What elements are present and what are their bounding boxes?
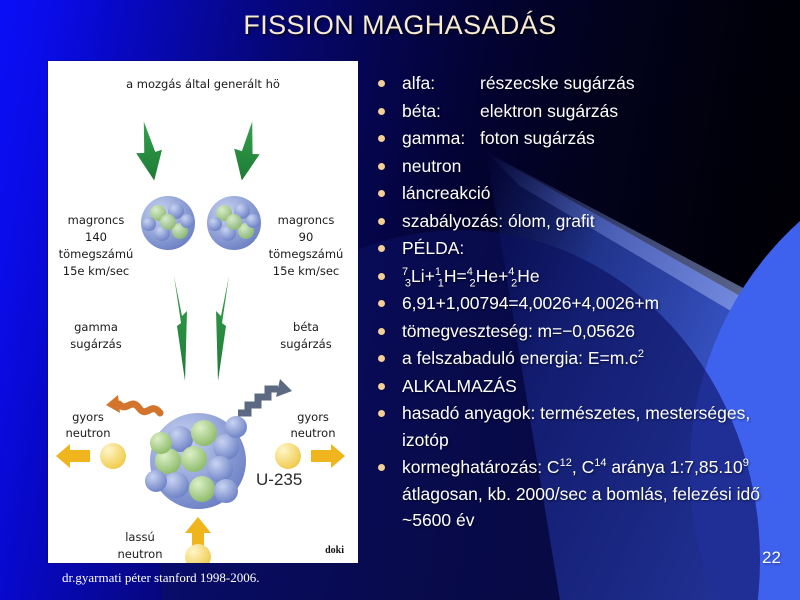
fast-neutron-right-line1: gyors (297, 410, 329, 424)
fragment-right-line2: 90 (299, 230, 314, 244)
eq-el-3: He (476, 266, 498, 286)
bullet-dot-icon (378, 190, 385, 197)
bullet-item-nuclear-equation: 73Li+11H=42He+42He (374, 263, 786, 290)
fragment-left-line2: 140 (85, 230, 107, 244)
bullet-dot-icon (378, 464, 385, 471)
bullet-label-neutron: neutron (402, 156, 461, 176)
bullet-label-mass-balance: 6,91+1,00794=4,0026+4,0026+m (402, 293, 659, 313)
bullet-dot-icon (378, 163, 385, 170)
bullet-label-alfa: alfa: (402, 70, 480, 97)
bullet-value-alfa: részecske sugárzás (480, 73, 635, 93)
nuclear-equation: 73Li+11H=42He+42He (402, 266, 540, 286)
energy-exponent: 2 (638, 348, 644, 360)
bullet-item-fissile: hasadó anyagok: természetes, mesterséges… (374, 400, 786, 453)
slide-canvas: FISSION MAGHASADÁS (0, 0, 800, 600)
eq-el-2: H (444, 266, 457, 286)
fast-neutron-left-line1: gyors (72, 410, 104, 424)
bullet-label-szabalyozas: szabályozás: ólom, grafit (402, 211, 595, 231)
figure-signature: doki (325, 545, 344, 556)
bullet-item-neutron: neutron (374, 153, 786, 180)
bullet-value-beta: elektron sugárzás (480, 101, 618, 121)
dating-seg1: kormeghatározás: C (402, 457, 560, 477)
bullet-item-pelda: PÉLDA: (374, 235, 786, 262)
dating-seg4: átlagosan, kb. 2000/sec a bomlás, felezé… (402, 484, 760, 531)
eq-op-3: + (498, 266, 508, 286)
bullet-item-beta: béta:elektron sugárzás (374, 98, 786, 125)
neutron-right-icon (275, 443, 301, 469)
bullet-item-gamma: gamma:foton sugárzás (374, 125, 786, 152)
bullet-dot-icon (378, 245, 385, 252)
bullet-dot-icon (378, 355, 385, 362)
eq-sup-2: 1 (435, 266, 441, 278)
bullet-label-mass-defect: tömegveszteség: m=−0,05626 (402, 321, 635, 341)
eq-sup-3: 4 (467, 266, 473, 278)
fast-neutron-right-line2: neutron (291, 426, 336, 440)
bullet-value-gamma: foton sugárzás (480, 128, 595, 148)
bullet-label-pelda: PÉLDA: (402, 238, 464, 258)
fragment-left-line1: magroncs (68, 213, 125, 227)
content-body: alfa:részecske sugárzás béta:elektron su… (374, 70, 786, 535)
eq-op-2: = (456, 266, 466, 286)
fragment-left-line3: tömegszámú (59, 247, 134, 261)
bullet-dot-icon (378, 300, 385, 307)
fission-diagram-image: a mozgás által generált hö (48, 61, 358, 563)
eq-sup-4: 4 (508, 266, 514, 278)
bullet-dot-icon (378, 135, 385, 142)
bullet-dot-icon (378, 383, 385, 390)
bullet-item-mass-defect: tömegveszteség: m=−0,05626 (374, 318, 786, 345)
fragment-right-line3: tömegszámú (269, 247, 344, 261)
bullet-label-beta: béta: (402, 98, 480, 125)
bullet-item-mass-balance: 6,91+1,00794=4,0026+4,0026+m (374, 290, 786, 317)
gamma-label-line1: gamma (74, 320, 118, 334)
dating-seg3: aránya 1:7,85.10 (606, 457, 742, 477)
uranium-label: U-235 (256, 470, 302, 489)
dating-sup3: 9 (743, 457, 749, 469)
bullet-list-primary: alfa:részecske sugárzás béta:elektron su… (374, 70, 786, 534)
bullet-dot-icon (378, 218, 385, 225)
eq-el-4: He (517, 266, 539, 286)
dating-sup1: 12 (560, 457, 572, 469)
beta-label-line2: sugárzás (280, 337, 331, 351)
slow-neutron-line1: lassú (125, 530, 155, 544)
figure-heat-label: a mozgás által generált hö (126, 77, 280, 91)
bullet-item-kormeghatarozas: kormeghatározás: C12, C14 aránya 1:7,85.… (374, 454, 786, 534)
bullet-label-alkalmazas: ALKALMAZÁS (402, 376, 517, 396)
bullet-dot-icon (378, 273, 385, 280)
bullet-label-energy: a felszabaduló energia: E=m.c (402, 348, 638, 368)
credit-line: dr.gyarmati péter stanford 1998-2006. (62, 570, 259, 586)
gamma-label-line2: sugárzás (70, 337, 121, 351)
fragment-nucleus-left-icon (141, 196, 195, 250)
beta-label-line1: béta (293, 320, 319, 334)
neutron-left-icon (100, 443, 126, 469)
bullet-label-lancreakcio: láncreakció (402, 183, 491, 203)
eq-op-1: + (425, 266, 435, 286)
eq-sup-1: 7 (402, 266, 408, 278)
bullet-dot-icon (378, 108, 385, 115)
bullet-item-alkalmazas: ALKALMAZÁS (374, 373, 786, 400)
bullet-label-fissile: hasadó anyagok: természetes, mesterséges… (402, 403, 750, 450)
bullet-label-gamma: gamma: (402, 125, 480, 152)
fragment-left-line4: 15e km/sec (63, 264, 130, 278)
bullet-item-energy: a felszabaduló energia: E=m.c2 (374, 345, 786, 372)
bullet-dot-icon (378, 80, 385, 87)
bullet-item-szabalyozas: szabályozás: ólom, grafit (374, 208, 786, 235)
dating-seg2: , C (572, 457, 594, 477)
bullet-dot-icon (378, 410, 385, 417)
fragment-nucleus-right-icon (207, 196, 261, 250)
bullet-item-lancreakcio: láncreakció (374, 180, 786, 207)
fast-neutron-left-line2: neutron (66, 426, 111, 440)
eq-el-1: Li (411, 266, 425, 286)
bullet-item-alfa: alfa:részecske sugárzás (374, 70, 786, 97)
fragment-right-line1: magroncs (278, 213, 335, 227)
dating-sup2: 14 (594, 457, 606, 469)
fragment-right-line4: 15e km/sec (273, 264, 340, 278)
slow-neutron-line2: neutron (118, 547, 163, 561)
page-number: 22 (762, 548, 781, 568)
bullet-dot-icon (378, 328, 385, 335)
page-title: FISSION MAGHASADÁS (0, 10, 800, 41)
